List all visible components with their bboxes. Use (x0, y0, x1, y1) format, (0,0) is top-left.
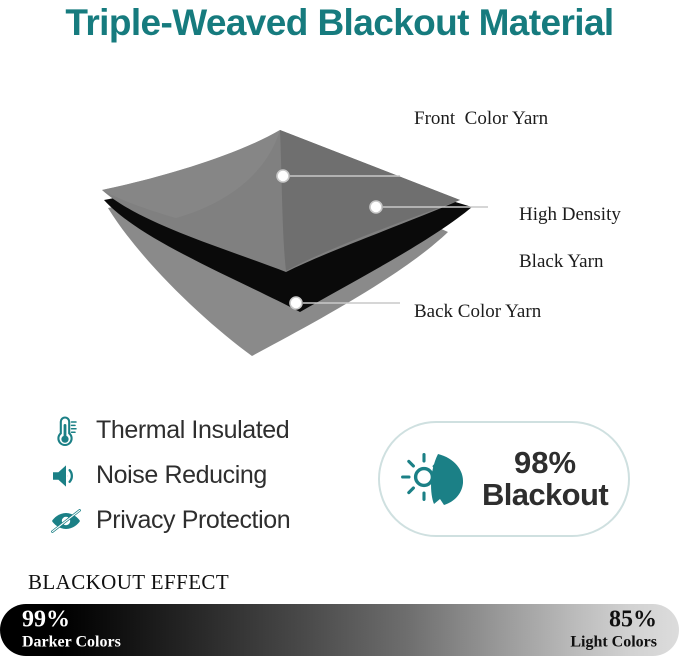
badge-percent: 98% (482, 447, 608, 479)
feature-label-noise-reducing: Noise Reducing (96, 461, 267, 490)
callout-label-front-color-yarn: Front Color Yarn (414, 107, 548, 130)
bar-left-group: 99% Darker Colors (22, 608, 121, 651)
blackout-percentage-badge: 98% Blackout (378, 421, 630, 537)
callout-label-back-color-yarn: Back Color Yarn (414, 300, 541, 323)
feature-list: Thermal Insulated Noise Reducing Privacy… (46, 408, 366, 543)
bar-right-caption: Light Colors (570, 633, 657, 650)
feature-item-thermal-insulated: Thermal Insulated (46, 408, 366, 453)
feature-label-privacy-protection: Privacy Protection (96, 506, 290, 535)
feature-item-noise-reducing: Noise Reducing (46, 453, 366, 498)
feature-label-thermal-insulated: Thermal Insulated (96, 416, 289, 445)
speaker-sound-icon (46, 456, 86, 496)
callout-label-line1: High Density (519, 204, 621, 225)
bar-left-caption: Darker Colors (22, 633, 121, 650)
bar-right-percent: 85% (570, 608, 657, 634)
page-title: Triple-Weaved Blackout Material (0, 2, 679, 44)
badge-text-group: 98% Blackout (482, 447, 608, 511)
sun-blocked-by-curtain-icon (400, 442, 474, 516)
thermometer-icon (46, 411, 86, 451)
callout-label-high-density-black-yarn: High Density Black Yarn (500, 180, 621, 296)
blackout-effect-gradient-bar: 99% Darker Colors 85% Light Colors (0, 604, 679, 656)
bar-right-group: 85% Light Colors (570, 608, 657, 651)
callout-label-line2: Black Yarn (519, 251, 603, 272)
eye-slash-icon (46, 501, 86, 541)
bar-left-percent: 99% (22, 608, 121, 634)
badge-word: Blackout (482, 479, 608, 511)
blackout-effect-title: BLACKOUT EFFECT (28, 570, 229, 595)
feature-item-privacy-protection: Privacy Protection (46, 498, 366, 543)
triple-layer-fabric-diagram: Front Color Yarn High Density Black Yarn… (0, 60, 679, 365)
